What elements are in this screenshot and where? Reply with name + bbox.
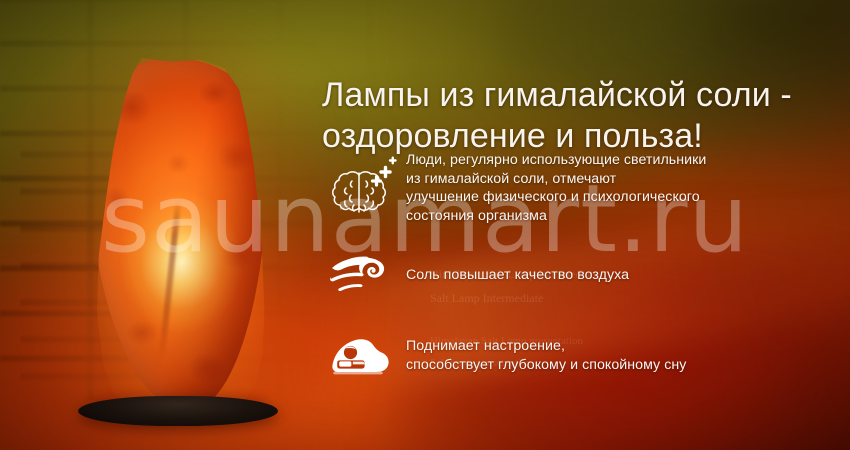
feature-text-air-quality: Соль повышает качество воздуха [406, 252, 846, 285]
feature-list: Люди, регулярно использующие светильники… [320, 150, 846, 388]
banner-headline: Лампы из гималайской соли - оздоровление… [322, 75, 842, 157]
wind-icon [320, 252, 406, 302]
salt-lamp-promo-banner: Himalayan Salt Lamp Intermediate Salt La… [0, 0, 850, 450]
brain-icon [320, 150, 406, 230]
feature-text-sleep-mood: Поднимает настроение, способствует глубо… [406, 328, 846, 374]
feature-item-mental-health: Люди, регулярно использующие светильники… [320, 150, 846, 230]
feature-item-sleep-mood: Поднимает настроение, способствует глубо… [320, 328, 846, 388]
banner-content: Лампы из гималайской соли - оздоровление… [318, 0, 850, 450]
feature-item-air-quality: Соль повышает качество воздуха [320, 252, 846, 302]
sleeping-person-icon [320, 328, 406, 388]
feature-text-mental-health: Люди, регулярно использующие светильники… [406, 150, 846, 225]
